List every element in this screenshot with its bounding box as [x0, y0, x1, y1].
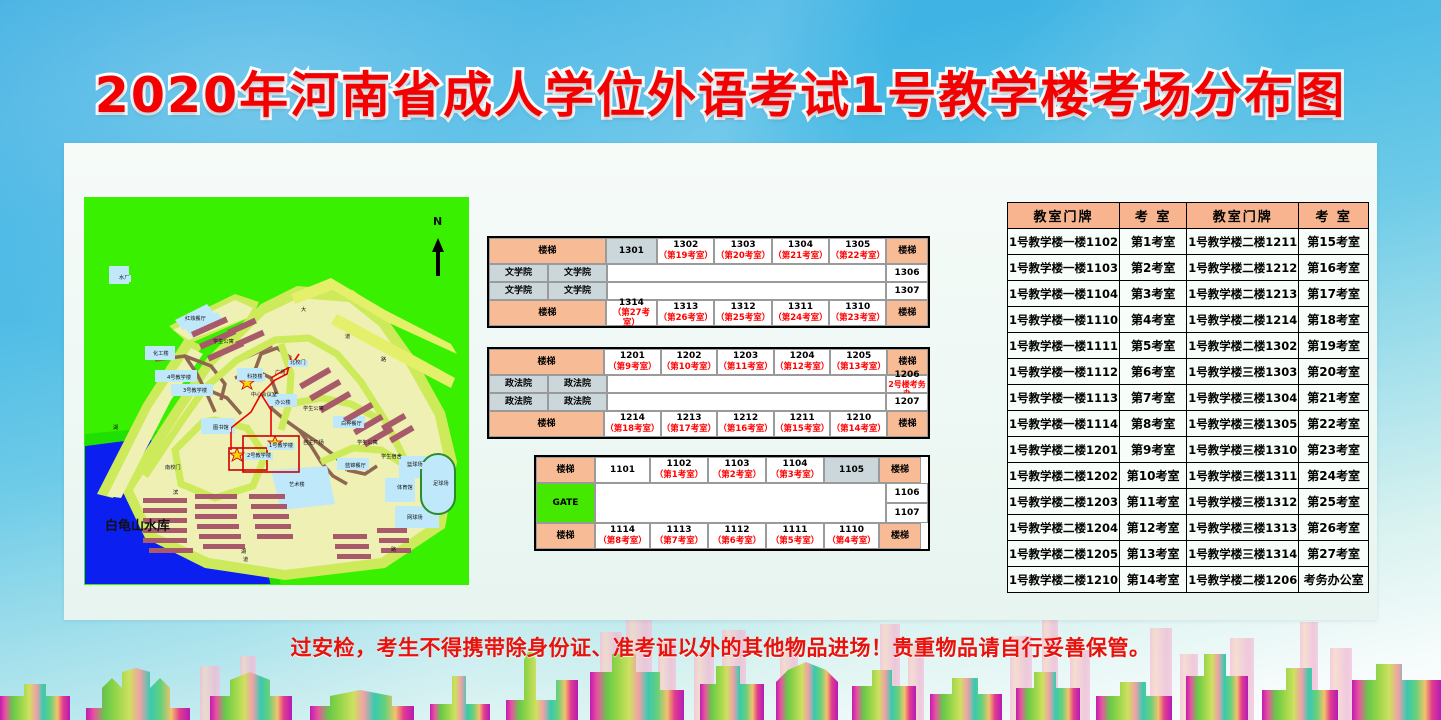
room-cell[interactable]: 1213（第17考室）: [661, 411, 718, 437]
room-number: 1305: [845, 240, 870, 250]
room-cell[interactable]: 1102（第1考室）: [650, 457, 708, 483]
room-number: 1314: [619, 298, 644, 308]
exam-room-cell: 第14考室: [1120, 567, 1187, 593]
table-row[interactable]: 1号教学楼二楼1201第9考室1号教学楼三楼1310第23考室: [1008, 437, 1369, 463]
exam-room-label: （第10考室）: [662, 363, 716, 373]
floor-row-top: 楼梯1201（第9考室）1202（第10考室）1203（第11考室）1204（第…: [489, 349, 928, 375]
floor-row-mid: GATE11061107: [536, 483, 928, 523]
room-number: 1312: [731, 302, 756, 312]
table-row[interactable]: 1号教学楼一楼1103第2考室1号教学楼二楼1212第16考室: [1008, 255, 1369, 281]
room-number: 楼梯: [538, 419, 556, 429]
room-cell[interactable]: 1106: [886, 483, 928, 503]
map-label: 滨: [173, 491, 178, 496]
department-cell[interactable]: 政法院: [489, 393, 548, 411]
map-label: 体育馆: [397, 486, 413, 491]
table-row[interactable]: 1号教学楼二楼1205第13考室1号教学楼三楼1314第27考室: [1008, 541, 1369, 567]
classroom-plate-cell: 1号教学楼一楼1103: [1008, 255, 1120, 281]
classroom-plate-cell: 1号教学楼一楼1114: [1008, 411, 1120, 437]
column-header: 考 室: [1120, 203, 1187, 229]
department-cell[interactable]: 政法院: [548, 375, 607, 393]
poster-title-bar: 2020年河南省成人学位外语考试1号教学楼考场分布图: [0, 56, 1441, 126]
exam-room-label: （第11考室）: [718, 363, 772, 373]
room-number: 楼梯: [538, 308, 556, 318]
room-number: 1114: [610, 525, 635, 535]
room-number: 1201: [620, 351, 645, 361]
classroom-plate-cell: 1号教学楼三楼1305: [1187, 411, 1299, 437]
exam-room-cell: 第16考室: [1299, 255, 1369, 281]
department-cell[interactable]: 政法院: [548, 393, 607, 411]
room-number: 1205: [846, 351, 871, 361]
map-label: 自主广场: [303, 441, 324, 446]
exam-room-label: （第21考室）: [773, 252, 827, 262]
room-cell[interactable]: 1310（第23考室）: [829, 300, 886, 326]
stair-cell[interactable]: 楼梯: [489, 300, 606, 326]
exam-room-label: （第14考室）: [832, 425, 886, 435]
room-cell[interactable]: 1101: [595, 457, 650, 483]
table-row[interactable]: 1号教学楼一楼1104第3考室1号教学楼二楼1213第17考室: [1008, 281, 1369, 307]
exam-room-label: （第20考室）: [716, 252, 770, 262]
map-label: 湖: [113, 426, 118, 431]
table-row[interactable]: 1号教学楼二楼1203第11考室1号教学楼三楼1312第25考室: [1008, 489, 1369, 515]
map-label: 白桦餐厅: [339, 421, 364, 428]
page-title: 2020年河南省成人学位外语考试1号教学楼考场分布图: [95, 56, 1346, 127]
table-body: 1号教学楼一楼1102第1考室1号教学楼二楼1211第15考室1号教学楼一楼11…: [1008, 229, 1369, 593]
corridor-cell: [607, 264, 886, 282]
floor-row-mid: 政法院政法院12062号楼考务办: [489, 375, 928, 393]
room-cell[interactable]: 1306: [886, 264, 928, 282]
classroom-plate-cell: 1号教学楼二楼1302: [1187, 333, 1299, 359]
classroom-plate-cell: 1号教学楼三楼1313: [1187, 515, 1299, 541]
room-number: 1204: [790, 351, 815, 361]
exam-room-cell: 第8考室: [1120, 411, 1187, 437]
room-number: 1307: [894, 286, 919, 296]
room-number: 1113: [666, 525, 691, 535]
room-number: 楼梯: [891, 531, 909, 541]
classroom-plate-cell: 1号教学楼二楼1213: [1187, 281, 1299, 307]
room-number: 1303: [731, 240, 756, 250]
room-cell[interactable]: 1110（第4考室）: [824, 523, 879, 549]
skyline-decoration: [0, 610, 1441, 720]
room-number: 1203: [733, 351, 758, 361]
exam-room-cell: 第9考室: [1120, 437, 1187, 463]
room-cell[interactable]: 1202（第10考室）: [661, 349, 718, 375]
exam-room-cell: 第19考室: [1299, 333, 1369, 359]
room-number: 1206: [894, 370, 919, 380]
classroom-plate-cell: 1号教学楼三楼1303: [1187, 359, 1299, 385]
corridor-cell: [607, 282, 886, 300]
room-number: 1110: [839, 525, 864, 535]
notice-text: 过安检，考生不得携带除身份证、准考证以外的其他物品进场！贵重物品请自行妥善保管。: [0, 632, 1441, 662]
room-cell[interactable]: 1112（第6考室）: [708, 523, 766, 549]
exam-room-cell: 第24考室: [1299, 463, 1369, 489]
exam-room-label: （第7考室）: [655, 537, 703, 547]
table-row[interactable]: 1号教学楼二楼1202第10考室1号教学楼三楼1311第24考室: [1008, 463, 1369, 489]
campus-map[interactable]: N 白龟山水库 水厂红烛餐厅学生公寓化工楼4号教学楼3号教学楼科技楼广场北校门中…: [84, 197, 469, 585]
room-cell[interactable]: 1211（第15考室）: [774, 411, 831, 437]
department-cell[interactable]: 文学院: [489, 264, 548, 282]
room-number: 1306: [894, 268, 919, 278]
column-header: 教室门牌: [1187, 203, 1299, 229]
room-cell[interactable]: 1311（第24考室）: [772, 300, 829, 326]
corridor-cell: [595, 483, 886, 523]
room-number: 1112: [724, 525, 749, 535]
exam-room-label: （第4考室）: [827, 537, 875, 547]
room-cell[interactable]: 1303（第20考室）: [714, 238, 771, 264]
floor-row-top: 楼梯11011102（第1考室）1103（第2考室）1104（第3考室）1105…: [536, 457, 928, 483]
column-header: 考 室: [1299, 203, 1369, 229]
exam-room-cell: 第18考室: [1299, 307, 1369, 333]
room-number: 楼梯: [538, 357, 556, 367]
room-cell[interactable]: 1113（第7考室）: [650, 523, 708, 549]
table-row[interactable]: 1号教学楼一楼1114第8考室1号教学楼三楼1305第22考室: [1008, 411, 1369, 437]
classroom-plate-cell: 1号教学楼一楼1102: [1008, 229, 1120, 255]
classroom-plate-cell: 1号教学楼一楼1113: [1008, 385, 1120, 411]
room-number: 楼梯: [898, 308, 916, 318]
exam-room-label: （第5考室）: [771, 537, 819, 547]
room-cell[interactable]: 1212（第16考室）: [717, 411, 774, 437]
room-number: 楼梯: [898, 246, 916, 256]
exam-room-cell: 第2考室: [1120, 255, 1187, 281]
stair-cell[interactable]: 楼梯: [489, 238, 606, 264]
classroom-plate-cell: 1号教学楼三楼1312: [1187, 489, 1299, 515]
exam-room-label: （第17考室）: [662, 425, 716, 435]
exam-room-label: （第8考室）: [598, 537, 646, 547]
table-row[interactable]: 1号教学楼一楼1113第7考室1号教学楼三楼1304第21考室: [1008, 385, 1369, 411]
exam-room-label: （第19考室）: [659, 252, 713, 262]
exam-room-label: （第22考室）: [831, 252, 885, 262]
map-label: 学生公寓: [357, 441, 378, 446]
stair-cell[interactable]: 楼梯: [886, 300, 928, 326]
exam-room-label: （第26考室）: [659, 314, 713, 324]
room-number: 1103: [724, 459, 749, 469]
room-cell[interactable]: 1103（第2考室）: [708, 457, 766, 483]
exam-room-cell: 第10考室: [1120, 463, 1187, 489]
room-number: 1211: [790, 413, 815, 423]
exam-room-label: （第1考室）: [655, 471, 703, 481]
room-cell[interactable]: 12062号楼考务办: [886, 375, 928, 393]
room-number: 1212: [733, 413, 758, 423]
room-cell[interactable]: 1305（第22考室）: [829, 238, 886, 264]
exam-room-cell: 第21考室: [1299, 385, 1369, 411]
exam-room-cell: 第22考室: [1299, 411, 1369, 437]
table-row[interactable]: 1号教学楼一楼1110第4考室1号教学楼二楼1214第18考室: [1008, 307, 1369, 333]
table-row[interactable]: 1号教学楼二楼1210第14考室1号教学楼二楼1206考务办公室: [1008, 567, 1369, 593]
exam-room-label: （第13考室）: [832, 363, 886, 373]
exam-room-table[interactable]: 教室门牌考 室教室门牌考 室 1号教学楼一楼1102第1考室1号教学楼二楼121…: [1007, 202, 1369, 593]
exam-room-label: （第18考室）: [605, 425, 659, 435]
room-cell[interactable]: 1107: [886, 503, 928, 523]
stair-cell[interactable]: 楼梯: [887, 411, 928, 437]
exam-room-cell: 第27考室: [1299, 541, 1369, 567]
map-label: 办公楼: [273, 400, 293, 407]
floor-plan-1[interactable]: 楼梯1201（第9考室）1202（第10考室）1203（第11考室）1204（第…: [487, 347, 930, 439]
exam-room-label: （第12考室）: [775, 363, 829, 373]
stair-cell[interactable]: 楼梯: [886, 238, 928, 264]
exam-room-cell: 考务办公室: [1299, 567, 1369, 593]
map-label: 2号教学楼: [245, 453, 273, 460]
room-number: 1105: [839, 465, 864, 475]
map-label: 4号教学楼: [165, 375, 193, 382]
room-number: 1302: [673, 240, 698, 250]
map-label: 北校门: [288, 360, 308, 367]
room-number: 楼梯: [891, 465, 909, 475]
exam-room-cell: 第15考室: [1299, 229, 1369, 255]
exam-room-cell: 第13考室: [1120, 541, 1187, 567]
exam-room-cell: 第7考室: [1120, 385, 1187, 411]
exam-room-label: （第24考室）: [773, 314, 827, 324]
map-label: 艺术楼: [289, 483, 305, 488]
room-cell[interactable]: 1314（第27考室）: [606, 300, 657, 326]
table-row[interactable]: 1号教学楼二楼1204第12考室1号教学楼三楼1313第26考室: [1008, 515, 1369, 541]
poster-root: 2020年河南省成人学位外语考试1号教学楼考场分布图 校园平面图 1号楼平面图 …: [0, 0, 1441, 720]
classroom-plate-cell: 1号教学楼三楼1304: [1187, 385, 1299, 411]
room-number: 1210: [846, 413, 871, 423]
room-number: 1101: [610, 465, 635, 475]
room-cell[interactable]: 1104（第3考室）: [766, 457, 824, 483]
map-label: 湖: [241, 550, 246, 555]
gate-cell[interactable]: GATE: [536, 483, 595, 523]
map-label: 3号教学楼: [181, 388, 209, 395]
floor-row-mid: 文学院文学院1307: [489, 282, 928, 300]
exam-room-cell: 第20考室: [1299, 359, 1369, 385]
table-row[interactable]: 1号教学楼一楼1102第1考室1号教学楼二楼1211第15考室: [1008, 229, 1369, 255]
exam-room-label: （第27考室）: [607, 309, 656, 329]
room-number: 楼梯: [899, 357, 917, 367]
map-label: 学生公寓: [303, 407, 324, 412]
stair-cell[interactable]: 楼梯: [489, 349, 604, 375]
exam-room-cell: 第4考室: [1120, 307, 1187, 333]
map-label: 水厂: [117, 275, 131, 282]
room-cell[interactable]: 1301: [606, 238, 657, 264]
room-cell[interactable]: 1205（第13考室）: [830, 349, 887, 375]
map-label: 路: [381, 358, 386, 363]
corridor-cell: [607, 375, 886, 393]
map-label: 学生宿舍: [381, 455, 402, 460]
classroom-plate-cell: 1号教学楼一楼1104: [1008, 281, 1120, 307]
floor-row-bottom: 楼梯1114（第8考室）1113（第7考室）1112（第6考室）1111（第5考…: [536, 523, 928, 549]
column-header: 教室门牌: [1008, 203, 1120, 229]
classroom-plate-cell: 1号教学楼一楼1111: [1008, 333, 1120, 359]
exam-room-label: （第23考室）: [831, 314, 885, 324]
room-cell[interactable]: 1114（第8考室）: [595, 523, 650, 549]
classroom-plate-cell: 1号教学楼一楼1110: [1008, 307, 1120, 333]
room-number: 1213: [676, 413, 701, 423]
map-label: 道: [243, 558, 248, 563]
department-cell[interactable]: 文学院: [548, 264, 607, 282]
room-number: 1311: [788, 302, 813, 312]
room-number: 1104: [782, 459, 807, 469]
exam-room-cell: 第12考室: [1120, 515, 1187, 541]
stair-cell[interactable]: 楼梯: [489, 411, 604, 437]
north-label: N: [433, 216, 442, 227]
floor-row-mid: 文学院文学院1306: [489, 264, 928, 282]
room-cell[interactable]: 1111（第5考室）: [766, 523, 824, 549]
exam-room-cell: 第25考室: [1299, 489, 1369, 515]
classroom-plate-cell: 1号教学楼一楼1112: [1008, 359, 1120, 385]
room-cell[interactable]: 1207: [886, 393, 928, 411]
room-number: 1304: [788, 240, 813, 250]
room-cell[interactable]: 1201（第9考室）: [604, 349, 661, 375]
department-cell[interactable]: 文学院: [548, 282, 607, 300]
classroom-plate-cell: 1号教学楼二楼1203: [1008, 489, 1120, 515]
room-number: 1102: [666, 459, 691, 469]
classroom-plate-cell: 1号教学楼二楼1211: [1187, 229, 1299, 255]
map-label: 化工楼: [151, 351, 171, 358]
exam-room-label: （第15考室）: [775, 425, 829, 435]
room-number: 1301: [619, 246, 644, 256]
map-label: 图书馆: [211, 425, 231, 432]
room-number: 1202: [676, 351, 701, 361]
classroom-plate-cell: 1号教学楼三楼1314: [1187, 541, 1299, 567]
map-label: 广场: [275, 371, 285, 376]
floor-row-bottom: 楼梯1214（第18考室）1213（第17考室）1212（第16考室）1211（…: [489, 411, 928, 437]
room-number: 楼梯: [556, 531, 574, 541]
map-label: 网球场: [405, 515, 425, 522]
exam-room-label: （第9考室）: [608, 363, 656, 373]
table-row[interactable]: 1号教学楼一楼1111第5考室1号教学楼二楼1302第19考室: [1008, 333, 1369, 359]
exam-room-cell: 第26考室: [1299, 515, 1369, 541]
map-label: 足球场: [433, 482, 449, 487]
floor-plan-2[interactable]: 楼梯11011102（第1考室）1103（第2考室）1104（第3考室）1105…: [534, 455, 930, 551]
floor-row-mid: 政法院政法院1207: [489, 393, 928, 411]
exam-room-cell: 第5考室: [1120, 333, 1187, 359]
room-number: 楼梯: [538, 246, 556, 256]
map-label: 大: [301, 308, 306, 313]
room-cell[interactable]: 1214（第18考室）: [604, 411, 661, 437]
exam-room-cell: 第3考室: [1120, 281, 1187, 307]
map-label: 红烛餐厅: [183, 316, 208, 323]
classroom-plate-cell: 1号教学楼二楼1212: [1187, 255, 1299, 281]
corridor-cell: [607, 393, 886, 411]
exam-room-cell: 第11考室: [1120, 489, 1187, 515]
classroom-plate-cell: 1号教学楼二楼1210: [1008, 567, 1120, 593]
room-cell[interactable]: 1204（第12考室）: [774, 349, 831, 375]
floor-plan-0[interactable]: 楼梯13011302（第19考室）1303（第20考室）1304（第21考室）1…: [487, 236, 930, 328]
exam-room-cell: 第6考室: [1120, 359, 1187, 385]
department-cell[interactable]: 文学院: [489, 282, 548, 300]
room-cell[interactable]: 1304（第21考室）: [772, 238, 829, 264]
table-header-row: 教室门牌考 室教室门牌考 室: [1008, 203, 1369, 229]
map-label: 蓝锦餐厅: [343, 463, 368, 470]
classroom-plate-cell: 1号教学楼二楼1205: [1008, 541, 1120, 567]
room-number: 楼梯: [899, 419, 917, 429]
room-cell[interactable]: 1105: [824, 457, 879, 483]
map-label: 路: [391, 548, 396, 553]
map-label: 学生公寓: [213, 340, 234, 345]
stair-cell[interactable]: 楼梯: [536, 457, 595, 483]
exam-room-cell: 第23考室: [1299, 437, 1369, 463]
map-label: 篮球场: [405, 462, 425, 469]
table-row[interactable]: 1号教学楼一楼1112第6考室1号教学楼三楼1303第20考室: [1008, 359, 1369, 385]
room-cell[interactable]: 1203（第11考室）: [717, 349, 774, 375]
map-label: 科技楼: [245, 374, 265, 381]
room-cell[interactable]: 1313（第26考室）: [657, 300, 714, 326]
exam-room-label: （第25考室）: [716, 314, 770, 324]
classroom-plate-cell: 1号教学楼三楼1311: [1187, 463, 1299, 489]
room-cell[interactable]: 1210（第14考室）: [830, 411, 887, 437]
room-number: 1214: [620, 413, 645, 423]
stair-cell[interactable]: 楼梯: [879, 457, 921, 483]
room-number: 1207: [894, 397, 919, 407]
room-number: 1310: [845, 302, 870, 312]
map-label: 道: [345, 335, 350, 340]
classroom-plate-cell: 1号教学楼二楼1202: [1008, 463, 1120, 489]
room-cell[interactable]: 1307: [886, 282, 928, 300]
classroom-plate-cell: 1号教学楼二楼1206: [1187, 567, 1299, 593]
room-cell[interactable]: 1312（第25考室）: [714, 300, 771, 326]
room-number: 楼梯: [556, 465, 574, 475]
floor-row-bottom: 楼梯1314（第27考室）1313（第26考室）1312（第25考室）1311（…: [489, 300, 928, 326]
stair-cell[interactable]: 楼梯: [879, 523, 921, 549]
exam-room-cell: 第1考室: [1120, 229, 1187, 255]
exam-room-label: （第6考室）: [713, 537, 761, 547]
classroom-plate-cell: 1号教学楼二楼1201: [1008, 437, 1120, 463]
reservoir-label: 白龟山水库: [105, 520, 170, 533]
classroom-plate-cell: 1号教学楼二楼1204: [1008, 515, 1120, 541]
room-cell[interactable]: 1302（第19考室）: [657, 238, 714, 264]
map-label: 南校门: [165, 466, 181, 471]
map-label: 中心会议室: [251, 393, 277, 398]
room-number: 1313: [673, 302, 698, 312]
room-number: 1111: [782, 525, 807, 535]
exam-room-label: （第2考室）: [713, 471, 761, 481]
exam-room-label: （第3考室）: [771, 471, 819, 481]
floor-row-top: 楼梯13011302（第19考室）1303（第20考室）1304（第21考室）1…: [489, 238, 928, 264]
stair-cell[interactable]: 楼梯: [536, 523, 595, 549]
exam-room-cell: 第17考室: [1299, 281, 1369, 307]
department-cell[interactable]: 政法院: [489, 375, 548, 393]
map-label: 1号教学楼: [267, 443, 295, 450]
classroom-plate-cell: 1号教学楼三楼1310: [1187, 437, 1299, 463]
classroom-plate-cell: 1号教学楼二楼1214: [1187, 307, 1299, 333]
exam-room-label: （第16考室）: [718, 425, 772, 435]
